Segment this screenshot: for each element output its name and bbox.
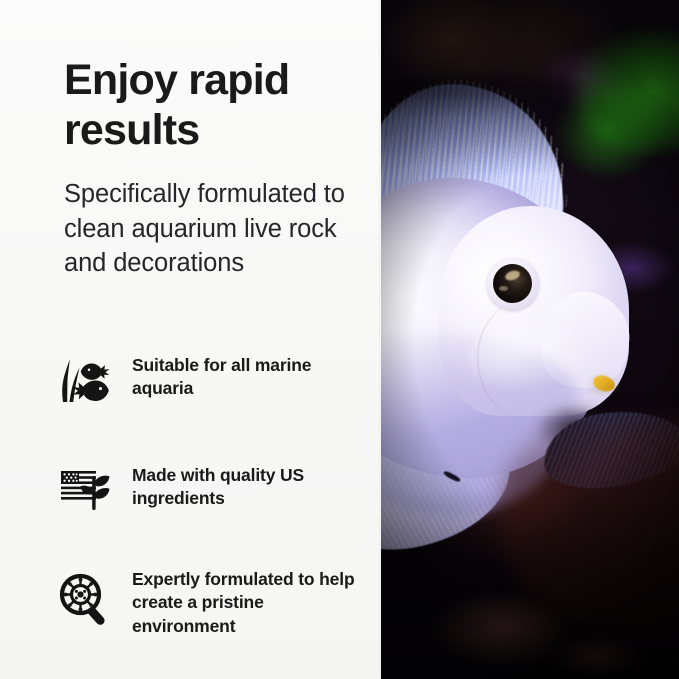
feature-label: Expertly formulated to help create a pri… [116,568,367,638]
feature-item-marine-aquaria: Suitable for all marine aquaria [0,348,381,424]
photo-vignette [381,0,679,679]
fish-and-seaweed-icon [56,350,116,408]
aquarium-scene [381,0,679,679]
product-feature-image: Enjoy rapid results Specifically formula… [0,0,679,679]
copy-panel: Enjoy rapid results Specifically formula… [0,0,381,679]
magnifying-glass-with-microbe-icon [56,570,116,628]
page-title: Enjoy rapid results [64,56,364,156]
feature-label: Made with quality US ingredients [116,458,367,511]
feature-item-pristine-environment: Expertly formulated to help create a pri… [0,568,381,644]
product-photo [381,0,679,679]
feature-label: Suitable for all marine aquaria [116,348,367,401]
subheadline: Specifically formulated to clean aquariu… [64,177,364,281]
feature-list: Suitable for all marine aquaria [0,348,381,644]
us-flag-with-plant-sprout-icon [56,460,116,518]
feature-item-us-ingredients: Made with quality US ingredients [0,458,381,534]
